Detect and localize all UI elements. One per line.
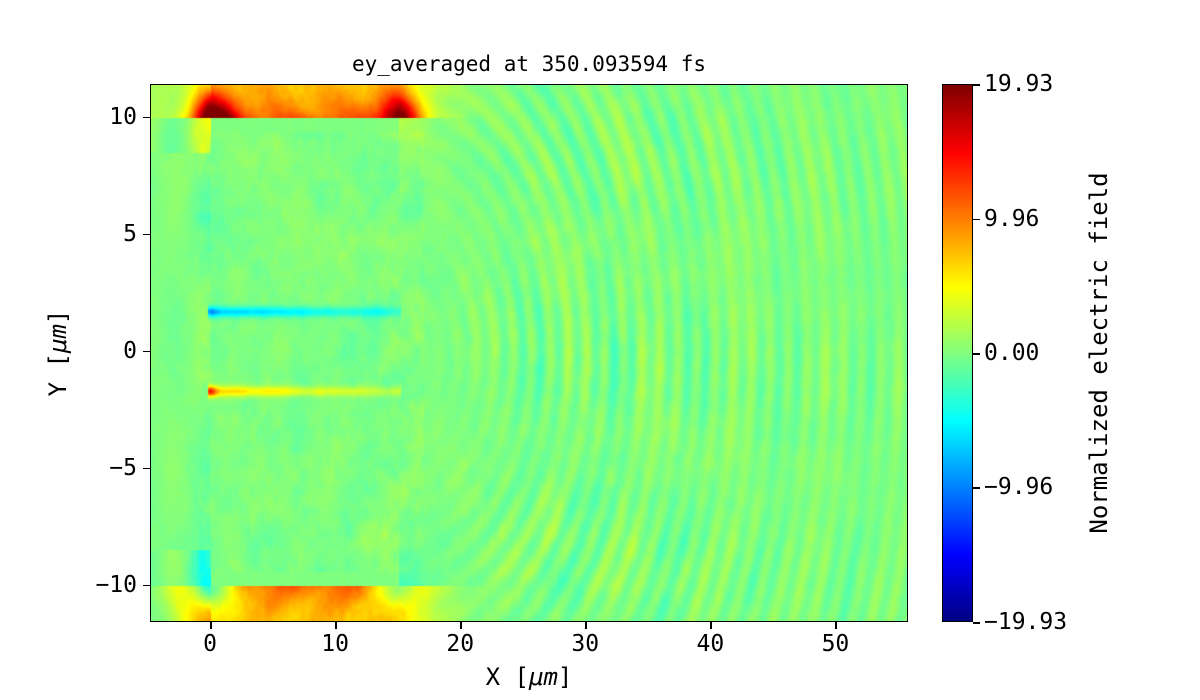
colorbar-tick-label: −19.93: [984, 609, 1067, 635]
x-tick-label: 0: [203, 631, 217, 657]
x-tick-mark: [835, 622, 837, 629]
x-tick-mark: [585, 622, 587, 629]
colorbar-tick-mark: [973, 487, 980, 489]
x-tick-mark: [710, 622, 712, 629]
x-tick-mark: [460, 622, 462, 629]
colorbar-gradient: [943, 85, 973, 622]
colorbar-tick-mark: [973, 622, 980, 624]
x-tick-mark: [335, 622, 337, 629]
y-tick-label: 5: [123, 221, 137, 247]
y-tick-label: −5: [109, 455, 137, 481]
figure-canvas: ey_averaged at 350.093594 fs 01020304050…: [0, 0, 1200, 700]
y-axis-label-prefix: Y [: [44, 353, 72, 396]
colorbar-tick-label: −9.96: [984, 474, 1053, 500]
page-title: ey_averaged at 350.093594 fs: [150, 52, 908, 76]
x-axis-label-suffix: ]: [558, 663, 572, 691]
colorbar-tick-mark: [973, 219, 980, 221]
x-axis-label: X [μm]: [150, 663, 908, 691]
y-axis-label-suffix: ]: [44, 310, 72, 324]
x-tick-label: 10: [321, 631, 349, 657]
y-tick-mark: [143, 117, 150, 119]
colorbar-tick-label: 19.93: [984, 71, 1053, 97]
colorbar-tick-mark: [973, 353, 980, 355]
y-tick-label: 0: [123, 338, 137, 364]
x-tick-label: 50: [822, 631, 850, 657]
x-tick-label: 20: [446, 631, 474, 657]
y-axis-label: Y [μm]: [44, 84, 72, 622]
colorbar-tick-mark: [973, 84, 980, 86]
y-tick-mark: [143, 468, 150, 470]
x-tick-mark: [210, 622, 212, 629]
colorbar: [942, 84, 973, 622]
y-tick-label: 10: [109, 104, 137, 130]
field-heatmap: [151, 85, 908, 622]
x-axis-label-prefix: X [: [486, 663, 529, 691]
colorbar-tick-label: 9.96: [984, 206, 1039, 232]
x-tick-label: 40: [697, 631, 725, 657]
y-tick-label: −10: [95, 572, 137, 598]
plot-axes-area: [150, 84, 908, 622]
y-tick-mark: [143, 585, 150, 587]
y-tick-mark: [143, 234, 150, 236]
colorbar-tick-label: 0.00: [984, 340, 1039, 366]
y-axis-label-unit: μm: [44, 324, 72, 353]
x-tick-label: 30: [571, 631, 599, 657]
y-tick-mark: [143, 351, 150, 353]
colorbar-label: Normalized electric field: [1085, 84, 1113, 622]
x-axis-label-unit: μm: [529, 663, 558, 691]
